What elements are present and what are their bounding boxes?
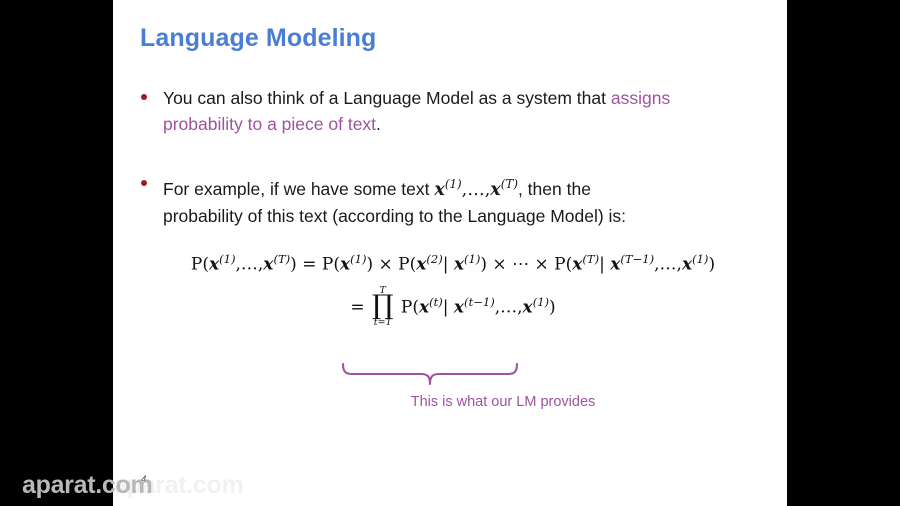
inline-math-sequence: x(1),…,x(T) [434, 180, 518, 200]
bullet-2-part-1: For example, if we have some text [163, 179, 430, 199]
player-watermark-ghost: aparat.com [113, 471, 243, 500]
bullet-dot-icon [141, 180, 147, 186]
bullet-text-2: For example, if we have some text x(1),…… [163, 171, 626, 229]
bullet-item-1: You can also think of a Language Model a… [141, 85, 741, 137]
bullet-2-part-2: , then the [518, 179, 591, 199]
underbrace-icon [341, 362, 519, 388]
bullet-1-tail: . [376, 114, 381, 134]
letterbox-right [787, 0, 900, 506]
product-glyph: ∏ [372, 295, 394, 318]
equation-block: P(x(1),…,x(T)) = P(x(1)) × P(x(2)| x(1))… [113, 252, 787, 329]
bullet-dot-icon [141, 94, 147, 100]
bullet-1-lead: You can also think of a Language Model a… [163, 88, 606, 108]
annotation-caption: This is what our LM provides [113, 394, 787, 410]
video-player-viewport: Language Modeling You can also think of … [0, 0, 900, 506]
equation-line-2: = T ∏ t=1 P(x(t)| x(t−1),…,x(1)) [113, 287, 787, 329]
letterbox-left [0, 0, 113, 506]
bullet-2-line-2: probability of this text (according to t… [163, 206, 626, 226]
bullet-item-2: For example, if we have some text x(1),…… [141, 171, 751, 229]
bullet-text-1: You can also think of a Language Model a… [163, 85, 741, 137]
product-operator: T ∏ t=1 [372, 286, 394, 328]
presentation-slide: Language Modeling You can also think of … [113, 0, 787, 506]
page-title: Language Modeling [140, 24, 376, 53]
equation-line-1: P(x(1),…,x(T)) = P(x(1)) × P(x(2)| x(1))… [113, 252, 787, 275]
product-lower-limit: t=1 [374, 318, 392, 328]
